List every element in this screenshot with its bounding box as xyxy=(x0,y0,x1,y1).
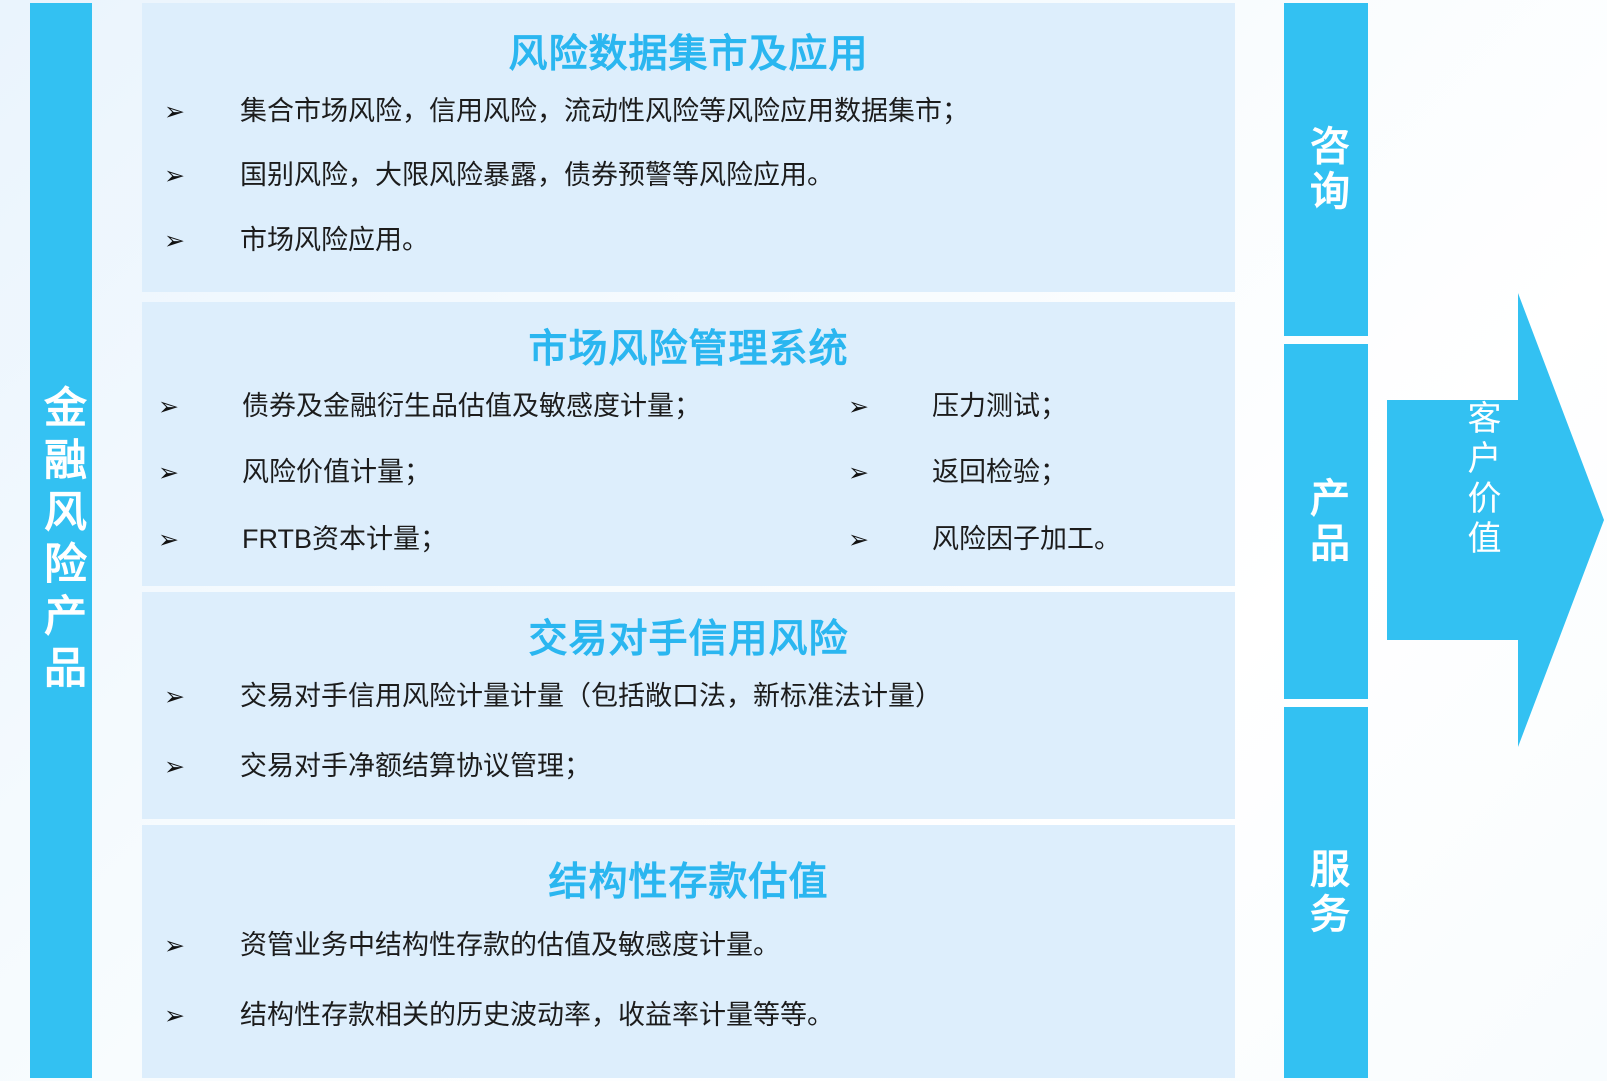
arrow-bullet-icon: ➢ xyxy=(842,528,932,553)
stage-block-consulting[interactable]: 咨询 xyxy=(1284,3,1368,336)
list-item[interactable]: ➢ FRTB资本计量； xyxy=(152,523,842,555)
section-title: 交易对手信用风险 xyxy=(142,592,1235,664)
list-item[interactable]: ➢ 国别风险，大限风险暴露，债券预警等风险应用。 xyxy=(142,159,1235,191)
arrow-bullet-icon: ➢ xyxy=(842,461,932,486)
bullet-column-right: ➢ 压力测试； ➢ 返回检验； ➢ 风险因子加工。 xyxy=(842,390,1225,589)
section-card-structured-deposit-valuation[interactable]: 结构性存款估值 ➢ 资管业务中结构性存款的估值及敏感度计量。 ➢ 结构性存款相关… xyxy=(142,825,1235,1078)
stage-block-label: 咨询 xyxy=(1306,125,1346,215)
customer-value-label: 客户价值 xyxy=(1428,400,1498,560)
list-item-label: 风险价值计量； xyxy=(242,456,842,488)
left-category-bar: 金融风险产品 xyxy=(30,3,92,1078)
bullet-list: ➢ 债券及金融衍生品估值及敏感度计量； ➢ 风险价值计量； ➢ FRTB资本计量… xyxy=(142,390,1235,589)
list-item[interactable]: ➢ 市场风险应用。 xyxy=(142,224,1235,256)
arrow-bullet-icon: ➢ xyxy=(152,528,242,553)
arrow-bullet-icon: ➢ xyxy=(842,395,932,420)
list-item[interactable]: ➢ 集合市场风险，信用风险，流动性风险等风险应用数据集市； xyxy=(142,95,1235,127)
arrow-bullet-icon: ➢ xyxy=(152,395,242,420)
arrow-bullet-icon: ➢ xyxy=(152,229,240,254)
section-card-counterparty-credit-risk[interactable]: 交易对手信用风险 ➢ 交易对手信用风险计量计量（包括敞口法，新标准法计量） ➢ … xyxy=(142,592,1235,819)
section-title: 市场风险管理系统 xyxy=(142,302,1235,374)
stage-block-label: 产品 xyxy=(1306,477,1346,567)
section-card-risk-data-mart[interactable]: 风险数据集市及应用 ➢ 集合市场风险，信用风险，流动性风险等风险应用数据集市； … xyxy=(142,3,1235,292)
arrow-bullet-icon: ➢ xyxy=(152,934,240,959)
slide-canvas: 金融风险产品 风险数据集市及应用 ➢ 集合市场风险，信用风险，流动性风险等风险应… xyxy=(0,0,1607,1081)
list-item-label: 市场风险应用。 xyxy=(240,224,1235,256)
list-item[interactable]: ➢ 风险因子加工。 xyxy=(842,523,1225,555)
list-item-label: 风险因子加工。 xyxy=(932,523,1225,555)
list-item[interactable]: ➢ 返回检验； xyxy=(842,456,1225,488)
list-item[interactable]: ➢ 风险价值计量； xyxy=(152,456,842,488)
arrow-bullet-icon: ➢ xyxy=(152,461,242,486)
list-item[interactable]: ➢ 交易对手信用风险计量计量（包括敞口法，新标准法计量） xyxy=(142,680,1235,712)
left-category-label: 金融风险产品 xyxy=(40,385,83,697)
list-item-label: FRTB资本计量； xyxy=(242,523,842,555)
list-item-label: 压力测试； xyxy=(932,390,1225,422)
list-item-label: 国别风险，大限风险暴露，债券预警等风险应用。 xyxy=(240,159,1235,191)
arrow-bullet-icon: ➢ xyxy=(152,685,240,710)
arrow-bullet-icon: ➢ xyxy=(152,100,240,125)
list-item-label: 结构性存款相关的历史波动率，收益率计量等等。 xyxy=(240,999,1235,1031)
list-item-label: 返回检验； xyxy=(932,456,1225,488)
arrow-bullet-icon: ➢ xyxy=(152,1004,240,1029)
list-item-label: 资管业务中结构性存款的估值及敏感度计量。 xyxy=(240,929,1235,961)
list-item-label: 交易对手信用风险计量计量（包括敞口法，新标准法计量） xyxy=(240,680,1235,712)
section-title: 风险数据集市及应用 xyxy=(142,3,1235,79)
bullet-list: ➢ 交易对手信用风险计量计量（包括敞口法，新标准法计量） ➢ 交易对手净额结算协… xyxy=(142,680,1235,783)
list-item[interactable]: ➢ 压力测试； xyxy=(842,390,1225,422)
stage-block-label: 服务 xyxy=(1306,848,1346,938)
bullet-column-left: ➢ 债券及金融衍生品估值及敏感度计量； ➢ 风险价值计量； ➢ FRTB资本计量… xyxy=(142,390,842,589)
customer-value-arrow[interactable]: 客户价值 xyxy=(1378,260,1607,780)
section-card-market-risk-system[interactable]: 市场风险管理系统 ➢ 债券及金融衍生品估值及敏感度计量； ➢ 风险价值计量； ➢… xyxy=(142,302,1235,586)
section-title: 结构性存款估值 xyxy=(142,825,1235,907)
stage-block-product[interactable]: 产品 xyxy=(1284,344,1368,699)
list-item-label: 债券及金融衍生品估值及敏感度计量； xyxy=(242,390,842,422)
sections-container: 风险数据集市及应用 ➢ 集合市场风险，信用风险，流动性风险等风险应用数据集市； … xyxy=(142,3,1235,1078)
list-item[interactable]: ➢ 资管业务中结构性存款的估值及敏感度计量。 xyxy=(142,929,1235,961)
list-item[interactable]: ➢ 结构性存款相关的历史波动率，收益率计量等等。 xyxy=(142,999,1235,1031)
bullet-list: ➢ 资管业务中结构性存款的估值及敏感度计量。 ➢ 结构性存款相关的历史波动率，收… xyxy=(142,929,1235,1032)
list-item[interactable]: ➢ 债券及金融衍生品估值及敏感度计量； xyxy=(152,390,842,422)
right-stage-blocks: 咨询 产品 服务 xyxy=(1284,3,1368,1078)
list-item[interactable]: ➢ 交易对手净额结算协议管理； xyxy=(142,750,1235,782)
list-item-label: 交易对手净额结算协议管理； xyxy=(240,750,1235,782)
arrow-bullet-icon: ➢ xyxy=(152,755,240,780)
arrow-bullet-icon: ➢ xyxy=(152,164,240,189)
stage-block-service[interactable]: 服务 xyxy=(1284,707,1368,1078)
bullet-list: ➢ 集合市场风险，信用风险，流动性风险等风险应用数据集市； ➢ 国别风险，大限风… xyxy=(142,95,1235,256)
list-item-label: 集合市场风险，信用风险，流动性风险等风险应用数据集市； xyxy=(240,95,1235,127)
